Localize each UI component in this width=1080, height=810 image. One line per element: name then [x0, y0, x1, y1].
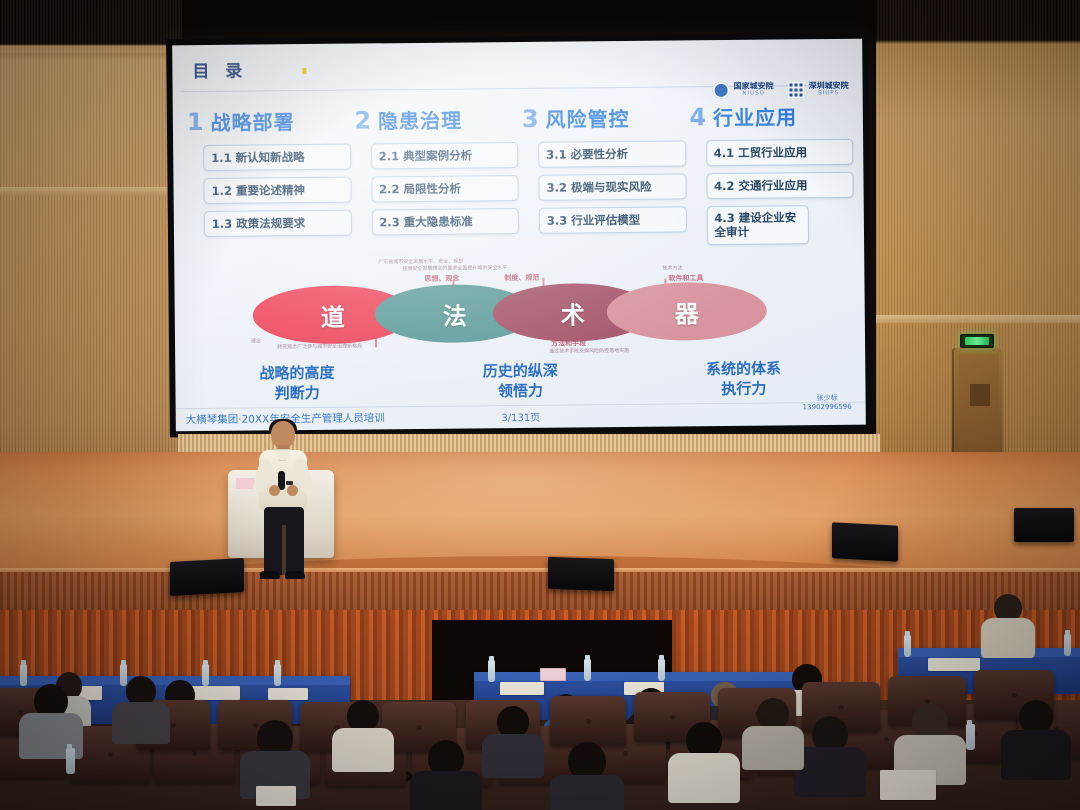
stage-monitor-speaker — [170, 558, 244, 596]
audience-person — [1006, 700, 1066, 776]
person-body — [482, 734, 544, 778]
venn-label: 术 — [561, 295, 585, 330]
logo-siups: 深圳城安院 SIUPS — [788, 81, 849, 98]
presenter-shoe-right — [285, 571, 305, 579]
siups-logo-icon — [788, 81, 805, 98]
section-number: 3 — [522, 105, 539, 133]
person-head — [1019, 700, 1053, 734]
section-name: 隐患治理 — [378, 105, 462, 135]
person-body — [668, 753, 740, 803]
lecture-hall-photo: 目 录 国家城安院 NIUSO 深圳城安院 SIUPS — [0, 0, 1080, 810]
summary-line2: 判断力 — [185, 383, 409, 405]
person-body — [410, 771, 482, 810]
summary-line1: 历史的纵深 — [409, 361, 633, 383]
handout-paper — [268, 688, 308, 700]
venn-note-small: 广东省城市安全发展水平、安全、规划 — [378, 259, 463, 266]
water-bottle-icon — [1064, 634, 1071, 656]
presenter-person — [247, 421, 317, 581]
person-body — [112, 702, 170, 744]
venn-note: 思想、观念 — [424, 275, 459, 284]
audience-person — [336, 700, 390, 766]
toc-sections: 1 战略部署 1.1 新认知新战略 1.2 重要论述精神 1.3 政策法规要求 … — [187, 101, 854, 250]
stage-monitor-speaker — [832, 522, 898, 561]
person-body — [981, 618, 1035, 658]
presenter-hand-right — [287, 485, 298, 496]
wall-trim — [0, 187, 182, 196]
summary-block: 历史的纵深 领悟力 — [409, 361, 633, 402]
toc-item[interactable]: 3.3 行业评估模型 — [539, 206, 687, 233]
presenter-trousers — [264, 507, 304, 575]
section-name: 战略部署 — [210, 106, 294, 136]
cursor-dot-icon — [302, 68, 306, 74]
handout-paper — [928, 658, 980, 671]
water-bottle-icon — [904, 635, 911, 657]
water-bottle-icon — [20, 664, 27, 686]
venn-ellipse: 器 — [606, 282, 767, 342]
water-bottle-icon — [66, 748, 75, 774]
water-bottle-icon — [658, 659, 665, 681]
audience-person — [900, 704, 960, 780]
water-bottle-icon — [966, 724, 975, 750]
toc-section-1: 1 战略部署 1.1 新认知新战略 1.2 重要论述精神 1.3 政策法规要求 — [187, 106, 352, 250]
audience-person — [416, 740, 476, 810]
toc-item[interactable]: 2.3 重大隐患标准 — [371, 208, 519, 235]
venn-label: 道 — [321, 297, 345, 332]
side-exit-door[interactable] — [952, 348, 1004, 466]
audience-person — [800, 716, 860, 792]
section-number: 1 — [187, 108, 204, 136]
toc-item[interactable]: 4.2 交通行业应用 — [706, 172, 854, 199]
logo-abbr: NIUSO — [734, 91, 774, 97]
handout-paper — [256, 786, 296, 806]
projection-screen: 目 录 国家城安院 NIUSO 深圳城安院 SIUPS — [166, 33, 872, 438]
stage-monitor-speaker — [1014, 508, 1074, 542]
summary-line1: 系统的体系 — [632, 359, 856, 381]
audience-person — [556, 742, 618, 810]
venn-diagram: 道 法 术 器 — [252, 282, 763, 345]
exit-sign-icon — [960, 334, 994, 348]
wall-trim — [876, 315, 1080, 323]
section-name: 风险管控 — [545, 103, 629, 133]
venn-label: 器 — [675, 294, 699, 329]
water-bottle-icon — [202, 664, 209, 686]
toc-item[interactable]: 4.3 建设企业安全审计 — [706, 205, 808, 245]
presenter-head — [271, 421, 295, 448]
door-plate — [970, 384, 990, 406]
summary-line1: 战略的高度 — [185, 363, 409, 385]
left-wall-wood-panel — [0, 0, 182, 520]
toc-item[interactable]: 2.1 典型案例分析 — [371, 142, 519, 169]
section-number: 4 — [689, 103, 706, 131]
logo-abbr: SIUPS — [809, 91, 849, 97]
summary-line2: 领悟力 — [409, 380, 633, 402]
summary-block: 战略的高度 判断力 — [185, 363, 409, 404]
slide-summary: 战略的高度 判断力 历史的纵深 领悟力 系统的体系 执行力 — [185, 359, 855, 404]
toc-item[interactable]: 1.2 重要论述精神 — [203, 177, 351, 204]
toc-item[interactable]: 2.2 局限性分析 — [371, 175, 519, 202]
footer-contact: 张少标 13902996596 — [803, 394, 852, 413]
audience-person — [984, 594, 1032, 652]
toc-item[interactable]: 3.2 极端与现实风险 — [538, 173, 686, 200]
toc-item[interactable]: 4.1 工贸行业应用 — [706, 139, 854, 166]
audience-person — [246, 720, 304, 796]
venn-note: 制度、规范 — [504, 274, 539, 283]
handout-paper — [880, 770, 936, 800]
niuso-logo-icon — [713, 82, 730, 99]
auditorium-seat[interactable] — [550, 696, 626, 746]
section-number: 2 — [354, 106, 371, 134]
audience-person — [746, 698, 800, 764]
venn-note-small: 通过技术手段支撑风险防控落地实施 — [549, 348, 629, 355]
toc-item[interactable]: 3.1 必要性分析 — [538, 140, 686, 167]
stage-monitor-speaker — [548, 557, 614, 591]
contact-phone: 13902996596 — [803, 403, 852, 413]
toc-item[interactable]: 1.3 政策法规要求 — [204, 210, 352, 237]
toc-item[interactable]: 1.1 新认知新战略 — [203, 144, 351, 171]
toc-section-3: 3 风险管控 3.1 必要性分析 3.2 极端与现实风险 3.3 行业评估模型 — [522, 102, 687, 246]
person-body — [1001, 730, 1071, 780]
presenter-shoe-left — [260, 571, 280, 579]
handout-paper — [500, 682, 544, 695]
venn-note-small: 转变观念广泛参与城市安全治理新格局 — [277, 344, 362, 351]
contact-name: 张少标 — [803, 394, 852, 404]
venn-label: 法 — [443, 296, 467, 331]
water-bottle-icon — [584, 659, 591, 681]
org-logos: 国家城安院 NIUSO 深圳城安院 SIUPS — [713, 81, 849, 99]
toc-section-2: 2 隐患治理 2.1 典型案例分析 2.2 局限性分析 2.3 重大隐患标准 — [354, 104, 519, 248]
person-body — [550, 775, 624, 810]
person-body — [332, 728, 394, 772]
table-name-card — [540, 668, 566, 681]
section-name: 行业应用 — [713, 101, 797, 131]
venn-note-small: 按照安全发展理念的要求全面提升城市安全水平 — [402, 265, 507, 273]
water-bottle-icon — [488, 660, 495, 682]
presentation-slide: 目 录 国家城安院 NIUSO 深圳城安院 SIUPS — [172, 39, 866, 432]
audience-person — [674, 722, 734, 798]
logo-niuso: 国家城安院 NIUSO — [713, 82, 774, 99]
toc-section-4: 4 行业应用 4.1 工贸行业应用 4.2 交通行业应用 4.3 建设企业安全审… — [689, 101, 854, 245]
venn-note-small: 技术方法 — [662, 265, 682, 272]
presenter-hand-left — [269, 485, 280, 496]
wristwatch-icon — [286, 481, 293, 485]
person-body — [794, 747, 866, 797]
person-body — [742, 726, 804, 770]
audience-person — [116, 676, 166, 740]
water-bottle-icon — [274, 664, 281, 686]
slide-title: 目 录 — [192, 57, 247, 83]
audience-person — [486, 706, 540, 772]
